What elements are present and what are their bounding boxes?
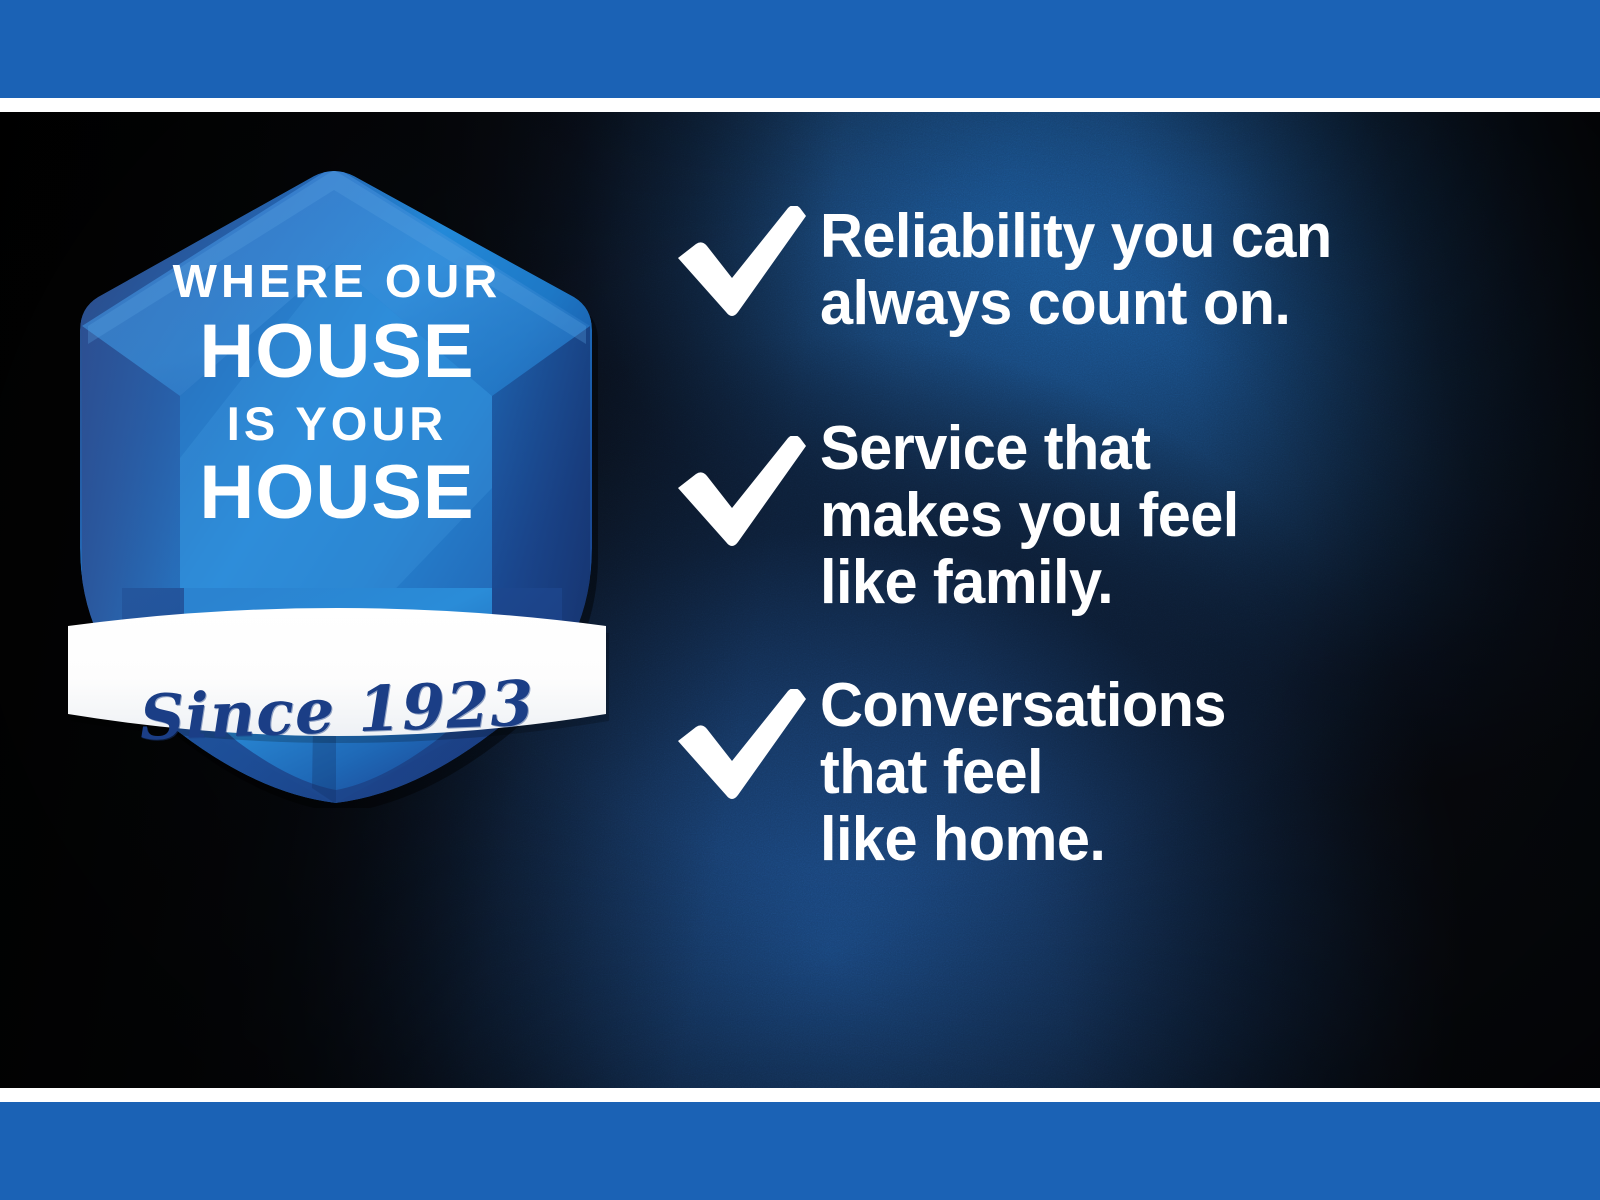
checkmark-icon: [670, 206, 810, 326]
promo-banner: WHERE OUR HOUSE IS YOUR HOUSE Since 1923…: [0, 0, 1600, 1200]
checkmark-icon: [670, 436, 810, 556]
list-item: Reliability you can always count on.: [670, 190, 1520, 338]
bottom-white-divider: [0, 1088, 1600, 1102]
checkmark-icon: [670, 689, 810, 809]
list-item-label: Reliability you can always count on.: [820, 190, 1492, 338]
list-item: Conversations that feel like home.: [670, 673, 1520, 874]
bottom-brand-bar: [0, 1102, 1600, 1200]
list-item-label: Conversations that feel like home.: [820, 673, 1492, 874]
shield-tagline-line-1: WHERE OUR: [57, 258, 618, 304]
benefits-list: Reliability you can always count on. Ser…: [670, 190, 1520, 874]
top-brand-bar: [0, 0, 1600, 98]
shield-tagline-line-3: IS YOUR: [62, 400, 612, 447]
shield-emblem: WHERE OUR HOUSE IS YOUR HOUSE Since 1923: [62, 158, 612, 808]
top-white-divider: [0, 98, 1600, 112]
shield-tagline-line-4: HOUSE: [62, 455, 612, 531]
shield-tagline-line-2: HOUSE: [62, 314, 612, 390]
list-item: Service that makes you feel like family.: [670, 416, 1520, 617]
shield-tagline: WHERE OUR HOUSE IS YOUR HOUSE: [62, 258, 612, 531]
list-item-label: Service that makes you feel like family.: [820, 416, 1492, 617]
